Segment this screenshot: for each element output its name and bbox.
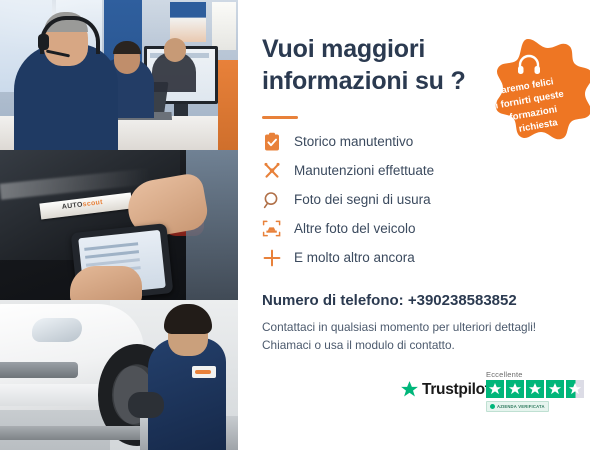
tools-cross-icon (262, 161, 282, 181)
title-underline-rule (262, 116, 298, 119)
list-item-label: E molto altro ancora (294, 248, 415, 268)
mechanic-glove (128, 392, 164, 418)
front-grille (0, 362, 78, 378)
list-item: Manutenzioni effettuate (262, 157, 562, 186)
uniform-logo-patch (192, 366, 216, 378)
star-cell-3 (526, 380, 544, 398)
car-scan-frame-icon (262, 219, 282, 239)
phone-line: Numero di telefono: +390238583852 (262, 292, 517, 309)
page-title: Vuoi maggiori informazioni su ? (262, 34, 492, 97)
photo-column: AUTOscout (0, 0, 238, 450)
technician-hand-lower (70, 266, 142, 300)
trustpilot-rating-label: Eccellente (486, 370, 523, 379)
verified-company-badge: AZIENDA VERIFICATA (486, 401, 549, 412)
photo-mechanic-inspecting-white-car-on-lift (0, 300, 238, 450)
verified-company-label: AZIENDA VERIFICATA (497, 404, 545, 409)
headset-earcup (38, 34, 49, 50)
list-item: Altre foto del veicolo (262, 215, 562, 244)
list-item-label: Storico manutentivo (294, 132, 413, 152)
trustpilot-brand-label: Trustpilot (422, 381, 490, 399)
magnifier-icon (262, 190, 282, 210)
list-item-label: Altre foto del veicolo (294, 219, 416, 239)
list-item: Foto dei segni di usura (262, 186, 562, 215)
photo-call-center-agents-with-headsets (0, 0, 238, 150)
headline-line-1: Vuoi maggiori (262, 34, 492, 66)
sticker-brand-text: AUTOscout (62, 199, 104, 211)
feature-list: Storico manutentivo Manutenzioni effettu… (262, 128, 562, 273)
headlight (32, 318, 82, 342)
photo-technician-applying-label-to-dark-car: AUTOscout (0, 150, 238, 300)
trustpilot-logo: Trustpilot (400, 380, 490, 399)
phone-label: Numero di telefono: (262, 292, 408, 309)
phone-number[interactable]: +390238583852 (408, 292, 517, 309)
front-bumper (0, 384, 104, 406)
list-item-label: Foto dei segni di usura (294, 190, 431, 210)
star-cell-1 (486, 380, 504, 398)
clipboard-check-icon (262, 132, 282, 152)
plus-icon (262, 248, 282, 268)
headset-icon (516, 54, 542, 76)
trustpilot-stars (486, 380, 584, 398)
wall-poster (170, 2, 206, 42)
star-cell-4 (546, 380, 564, 398)
star-cell-5-partial (566, 380, 584, 398)
wall-poster-secondary (212, 2, 236, 50)
trustpilot-star-icon (400, 380, 419, 399)
list-item: E molto altro ancora (262, 244, 562, 273)
verified-check-icon (490, 404, 495, 409)
headset-band (40, 16, 100, 54)
content-panel: Vuoi maggiori informazioni su ? Saremo f… (238, 0, 600, 450)
vehicle-lift-platform (0, 426, 150, 440)
agent-background-2-head (164, 38, 186, 62)
contact-paragraph-line-1: Contattaci in qualsiasi momento per ulte… (262, 318, 582, 336)
star-cell-2 (506, 380, 524, 398)
trustpilot-rating[interactable]: Trustpilot Eccellente AZIENDA VERIFICATA (400, 370, 590, 416)
monitor-stand (174, 104, 188, 116)
contact-paragraph: Contattaci in qualsiasi momento per ulte… (262, 318, 582, 355)
orange-shelf-accent (218, 60, 238, 150)
headline-line-2: informazioni su ? (262, 66, 492, 98)
list-item-label: Manutenzioni effettuate (294, 161, 434, 181)
list-item: Storico manutentivo (262, 128, 562, 157)
promo-card: AUTOscout Vuoi maggiori informazioni (0, 0, 600, 450)
contact-paragraph-line-2: Chiamaci o usa il modulo di contatto. (262, 336, 582, 354)
